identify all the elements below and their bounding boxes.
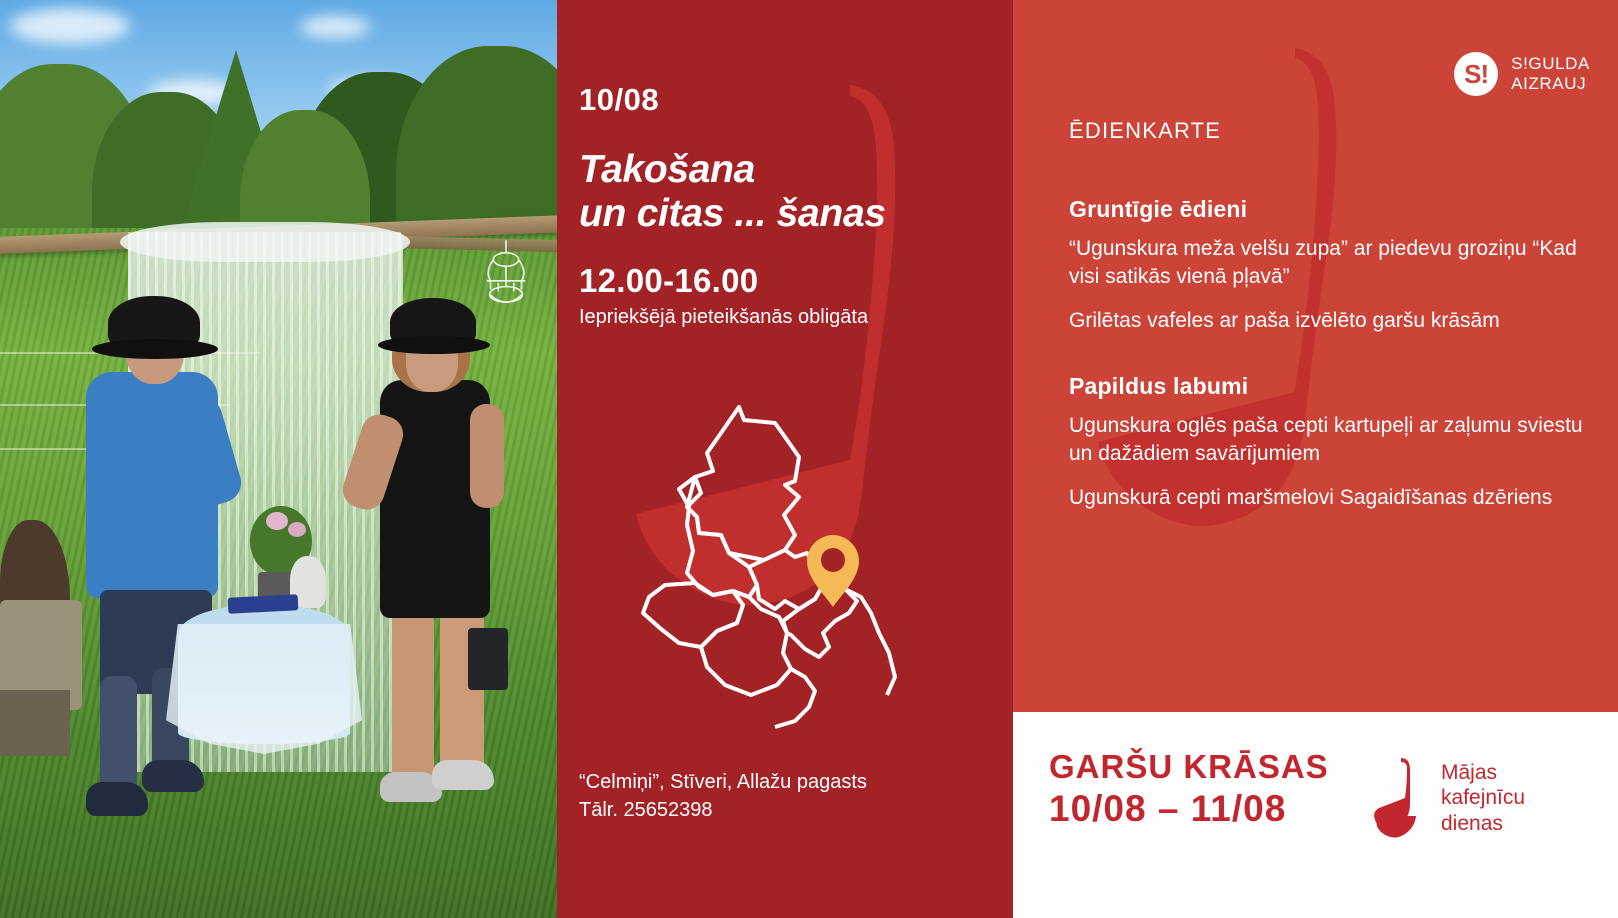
phone-line: Tālr. 25652398 <box>579 796 979 824</box>
partner-line1: Mājas <box>1441 760 1525 786</box>
menu-item: Grilētas vafeles ar paša izvēlēto garšu … <box>1069 307 1589 335</box>
campaign-dates: 10/08 – 11/08 <box>1049 787 1329 831</box>
flower <box>266 512 288 530</box>
lantern <box>468 628 508 690</box>
sigulda-logo-text: S!GULDA AIZRAUJ <box>1511 54 1590 94</box>
person-shoe <box>86 782 148 816</box>
menu-section-title: Papildus labumi <box>1069 373 1589 400</box>
garden-chair <box>0 690 70 756</box>
sun-hat-brim <box>378 336 490 354</box>
menu-panel: S! S!GULDA AIZRAUJ ĒDIENKARTE Gruntīgie … <box>1013 0 1618 712</box>
flower <box>288 522 306 537</box>
event-title: Takošana un citas ... šanas <box>579 148 999 235</box>
campaign-title: GARŠU KRĀSAS 10/08 – 11/08 <box>1049 748 1329 831</box>
partner-name: Mājas kafejnīcu dienas <box>1441 760 1525 837</box>
event-date: 10/08 <box>579 82 659 118</box>
menu-sections: Gruntīgie ēdieni “Ugunskura meža velšu z… <box>1069 196 1589 528</box>
sigulda-parish-map <box>609 385 899 745</box>
event-time: 12.00-16.00 <box>579 262 758 300</box>
person-arm <box>470 404 504 508</box>
menu-section-title: Gruntīgie ēdieni <box>1069 196 1589 223</box>
venue-address: “Celmiņi”, Stīveri, Allažu pagasts Tālr.… <box>579 768 979 825</box>
partner-line3: dienas <box>1441 811 1525 837</box>
event-title-line1: Takošana <box>579 148 999 192</box>
tablecloth <box>166 624 362 754</box>
event-title-line2: un citas ... šanas <box>579 192 999 236</box>
event-details-panel: 10/08 Takošana un citas ... šanas 12.00-… <box>557 0 1013 918</box>
registration-note: Iepriekšējā pieteikšanās obligāta <box>579 306 868 329</box>
partner-line2: kafejnīcu <box>1441 785 1525 811</box>
majas-kafejnicu-dienas-logo: Mājas kafejnīcu dienas <box>1371 752 1525 844</box>
campaign-title-line1: GARŠU KRĀSAS <box>1049 748 1329 787</box>
ladle-icon <box>1371 752 1429 844</box>
sigulda-logo-line2: AIZRAUJ <box>1511 74 1590 94</box>
person-shoe <box>142 760 204 792</box>
map-svg <box>609 385 899 745</box>
person-shoe <box>432 760 494 790</box>
menu-item: Ugunskurā cepti maršmelovi Sagaidīšanas … <box>1069 484 1589 512</box>
person-sock <box>100 676 137 794</box>
address-line: “Celmiņi”, Stīveri, Allažu pagasts <box>579 768 979 796</box>
event-details-content: 10/08 Takošana un citas ... šanas 12.00-… <box>579 0 999 918</box>
footer-bar: GARŠU KRĀSAS 10/08 – 11/08 Mājas kafejnī… <box>1013 712 1618 918</box>
event-photo <box>0 0 557 918</box>
sigulda-logo-line1: S!GULDA <box>1511 54 1590 74</box>
person-leg <box>392 608 434 786</box>
event-poster: 10/08 Takošana un citas ... šanas 12.00-… <box>0 0 1618 918</box>
menu-item: “Ugunskura meža velšu zupa” ar piedevu g… <box>1069 235 1589 291</box>
chandelier-icon <box>477 236 535 314</box>
sigulda-logo-mark: S! <box>1454 52 1498 96</box>
menu-item: Ugunskura oglēs paša cepti kartupeļi ar … <box>1069 412 1589 468</box>
sigulda-logo: S! S!GULDA AIZRAUJ <box>1454 52 1590 96</box>
menu-heading: ĒDIENKARTE <box>1069 118 1221 144</box>
sun-hat-brim <box>92 339 218 359</box>
